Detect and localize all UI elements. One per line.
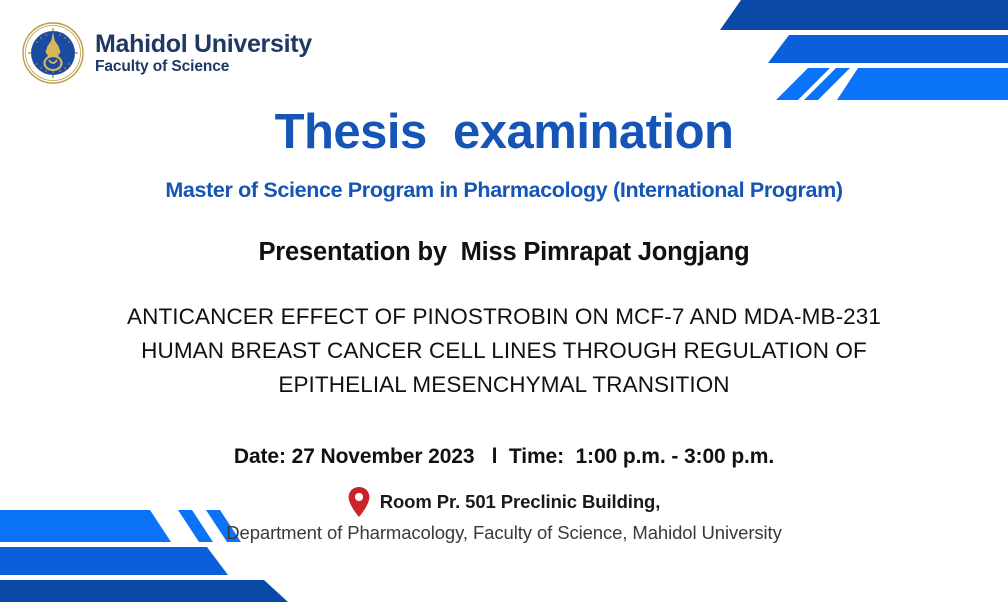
- mahidol-seal-icon: [22, 22, 84, 84]
- university-logo: Mahidol University Faculty of Science: [22, 22, 312, 84]
- date-time-line: Date: 27 November 2023 l Time: 1:00 p.m.…: [30, 445, 978, 469]
- poster-content: Thesis examination Master of Science Pro…: [0, 104, 1008, 544]
- faculty-name: Faculty of Science: [95, 59, 312, 75]
- diagonal-band-stripes-icon: [708, 0, 1008, 100]
- map-pin-icon: [348, 487, 370, 517]
- presenter-line: Presentation by Miss Pimrapat Jongjang: [30, 238, 978, 267]
- university-name: Mahidol University: [95, 31, 312, 58]
- thesis-title: ANTICANCER EFFECT OF PINOSTROBIN ON MCF-…: [30, 300, 978, 403]
- top-right-decoration: [708, 0, 1008, 100]
- program-subtitle: Master of Science Program in Pharmacolog…: [30, 178, 978, 203]
- venue-room-line: Room Pr. 501 Preclinic Building,: [30, 487, 978, 517]
- thesis-title-line-3: EPITHELIAL MESENCHYMAL TRANSITION: [30, 368, 978, 402]
- venue-department-text: Department of Pharmacology, Faculty of S…: [30, 522, 978, 544]
- thesis-examination-poster: Mahidol University Faculty of Science Th…: [0, 0, 1008, 602]
- page-title: Thesis examination: [30, 104, 978, 161]
- thesis-title-line-1: ANTICANCER EFFECT OF PINOSTROBIN ON MCF-…: [30, 300, 978, 334]
- logo-text-block: Mahidol University Faculty of Science: [95, 31, 312, 76]
- venue-room-text: Room Pr. 501 Preclinic Building,: [380, 491, 661, 513]
- venue-block: Room Pr. 501 Preclinic Building, Departm…: [30, 487, 978, 544]
- thesis-title-line-2: HUMAN BREAST CANCER CELL LINES THROUGH R…: [30, 334, 978, 368]
